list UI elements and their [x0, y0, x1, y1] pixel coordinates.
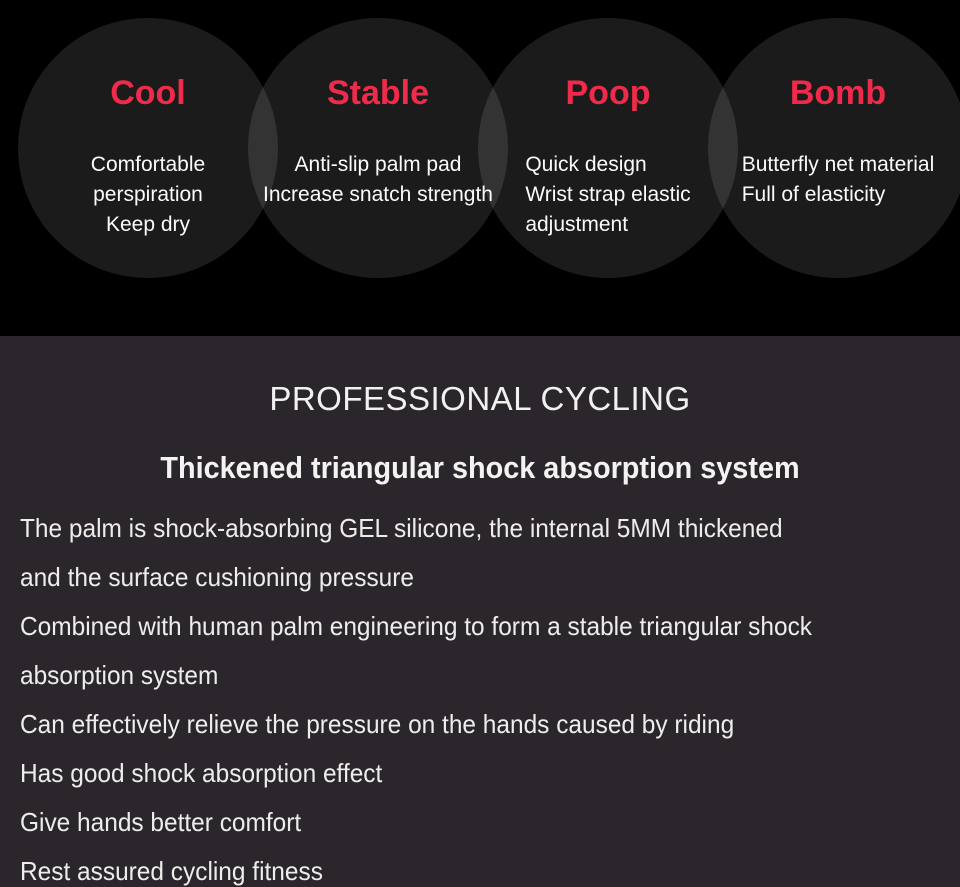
venn-circle-4 [708, 18, 960, 278]
venn-circle-3 [478, 18, 738, 278]
product-detail-page: Cool Comfortable perspiration Keep dry S… [0, 0, 960, 887]
description-line: and the surface cushioning pressure [20, 553, 899, 602]
description-line: Can effectively relieve the pressure on … [20, 700, 899, 749]
venn-diagram-section: Cool Comfortable perspiration Keep dry S… [0, 0, 960, 336]
description-line: Combined with human palm engineering to … [20, 602, 899, 651]
headline-shock-absorption-system: Thickened triangular shock absorption sy… [34, 450, 927, 486]
description-line: The palm is shock-absorbing GEL silicone… [20, 504, 899, 553]
description-line: Rest assured cycling fitness [20, 847, 899, 887]
description-line: Give hands better comfort [20, 798, 899, 847]
description-line: absorption system [20, 651, 899, 700]
description-line: Has good shock absorption effect [20, 749, 899, 798]
venn-circle-2 [248, 18, 508, 278]
description-body: The palm is shock-absorbing GEL silicone… [20, 504, 955, 887]
product-description-section: PROFESSIONAL CYCLING Thickened triangula… [0, 336, 960, 887]
headline-professional-cycling: PROFESSIONAL CYCLING [0, 380, 960, 418]
venn-circle-1 [18, 18, 278, 278]
